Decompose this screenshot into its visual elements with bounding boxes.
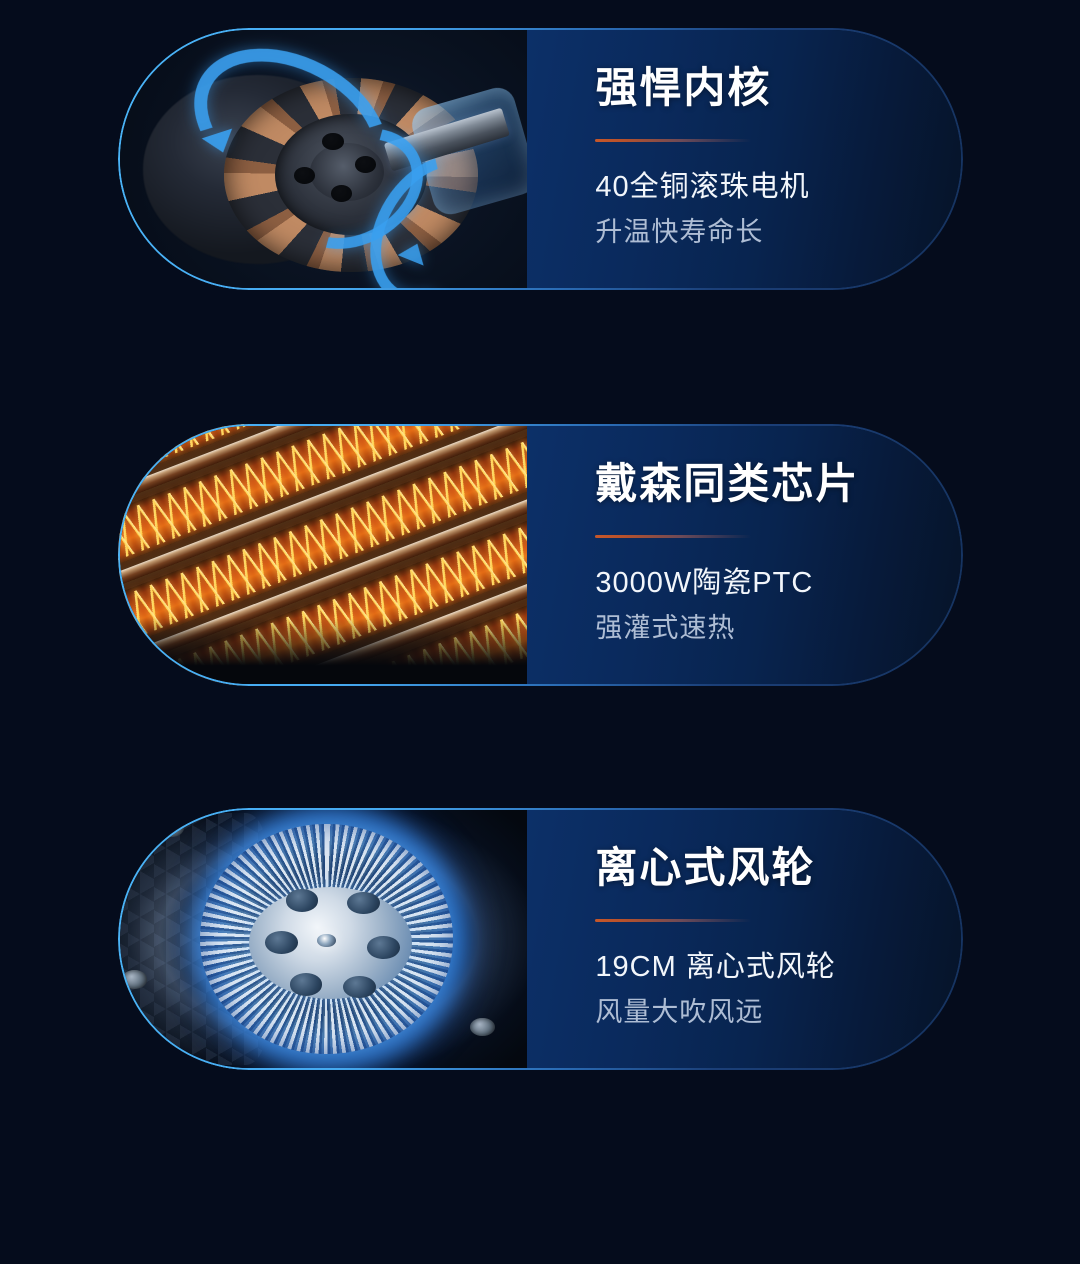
card-divider — [595, 139, 751, 142]
card-divider — [595, 919, 751, 922]
card-caption: 升温快寿命长 — [595, 215, 929, 250]
card-content-ptc: 戴森同类芯片 3000W陶瓷PTC 强灌式速热 — [595, 424, 929, 686]
card-content-fan: 离心式风轮 19CM 离心式风轮 风量大吹风远 — [595, 808, 929, 1070]
card-heading: 戴森同类芯片 — [595, 463, 929, 505]
card-divider — [595, 535, 751, 538]
feature-card-motor[interactable]: 强悍内核 40全铜滚珠电机 升温快寿命长 — [118, 28, 963, 290]
card-image-fan — [118, 808, 527, 1070]
ptc-shadow-overlay — [118, 618, 527, 686]
feature-card-fan[interactable]: 离心式风轮 19CM 离心式风轮 风量大吹风远 — [118, 808, 963, 1070]
fan-hub-dimple — [367, 936, 400, 959]
card-caption: 强灌式速热 — [595, 611, 929, 646]
card-subtitle: 3000W陶瓷PTC — [595, 566, 929, 602]
card-image-ptc — [118, 424, 527, 686]
card-content-motor: 强悍内核 40全铜滚珠电机 升温快寿命长 — [595, 28, 929, 290]
card-image-motor — [118, 28, 527, 290]
fan-hub-dimple — [347, 892, 380, 915]
product-feature-page: 强悍内核 40全铜滚珠电机 升温快寿命长 — [0, 0, 1080, 1264]
card-subtitle: 40全铜滚珠电机 — [595, 170, 929, 206]
fan-center-shaft — [317, 934, 336, 948]
card-subtitle: 19CM 离心式风轮 — [595, 950, 929, 986]
card-heading: 离心式风轮 — [595, 847, 929, 889]
fan-housing-screw — [159, 818, 184, 836]
fan-hub-dimple — [290, 973, 323, 996]
fan-hub-dimple — [286, 889, 319, 912]
card-caption: 风量大吹风远 — [595, 995, 929, 1030]
fan-housing-screw — [122, 970, 147, 988]
brushless-motor-illustration — [118, 28, 527, 290]
ptc-heater-illustration — [118, 424, 527, 686]
fan-hub-dimple — [343, 976, 376, 999]
centrifugal-fan-illustration — [118, 808, 527, 1070]
feature-card-ptc[interactable]: 戴森同类芯片 3000W陶瓷PTC 强灌式速热 — [118, 424, 963, 686]
card-heading: 强悍内核 — [595, 67, 929, 109]
fan-hub-dimple — [265, 931, 298, 954]
